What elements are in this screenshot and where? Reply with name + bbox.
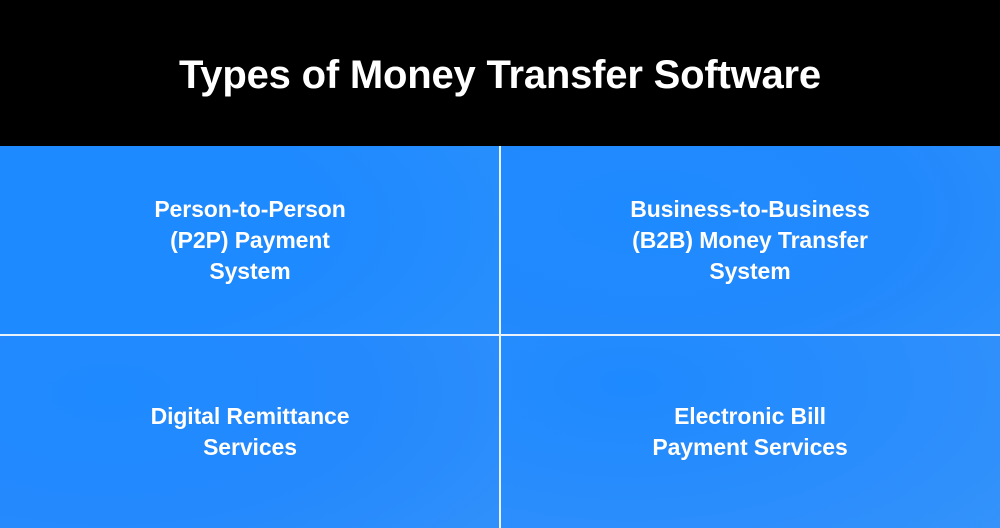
divider-horizontal <box>0 334 1000 336</box>
quadrant-label-person-to-person: Person-to-Person (P2P) Payment System <box>128 194 371 287</box>
quadrant-electronic-bill-payment[interactable]: Electronic Bill Payment Services <box>500 335 1000 528</box>
page-title: Types of Money Transfer Software <box>179 55 821 95</box>
quadrant-person-to-person[interactable]: Person-to-Person (P2P) Payment System <box>0 146 500 335</box>
title-band: Types of Money Transfer Software <box>0 0 1000 146</box>
divider-vertical <box>499 146 501 528</box>
quadrant-line-1: Business-to-Business <box>630 196 870 222</box>
quadrant-line-2: (B2B) Money Transfer <box>632 227 868 253</box>
quadrant-line-2: Services <box>203 434 297 460</box>
quadrant-line-1: Digital Remittance <box>151 403 350 429</box>
quadrant-line-2: (P2P) Payment <box>170 227 330 253</box>
quadrant-label-business-to-business: Business-to-Business (B2B) Money Transfe… <box>604 194 896 287</box>
quadrant-label-electronic-bill-payment: Electronic Bill Payment Services <box>626 401 873 463</box>
infographic-slide: Types of Money Transfer Software Person-… <box>0 0 1000 528</box>
quadrant-line-3: System <box>209 258 290 284</box>
quadrant-business-to-business[interactable]: Business-to-Business (B2B) Money Transfe… <box>500 146 1000 335</box>
quadrant-label-digital-remittance: Digital Remittance Services <box>125 401 376 463</box>
quadrant-line-1: Electronic Bill <box>674 403 826 429</box>
quadrant-line-3: System <box>709 258 790 284</box>
quadrant-line-2: Payment Services <box>652 434 847 460</box>
quadrant-digital-remittance[interactable]: Digital Remittance Services <box>0 335 500 528</box>
quadrant-line-1: Person-to-Person <box>154 196 345 222</box>
